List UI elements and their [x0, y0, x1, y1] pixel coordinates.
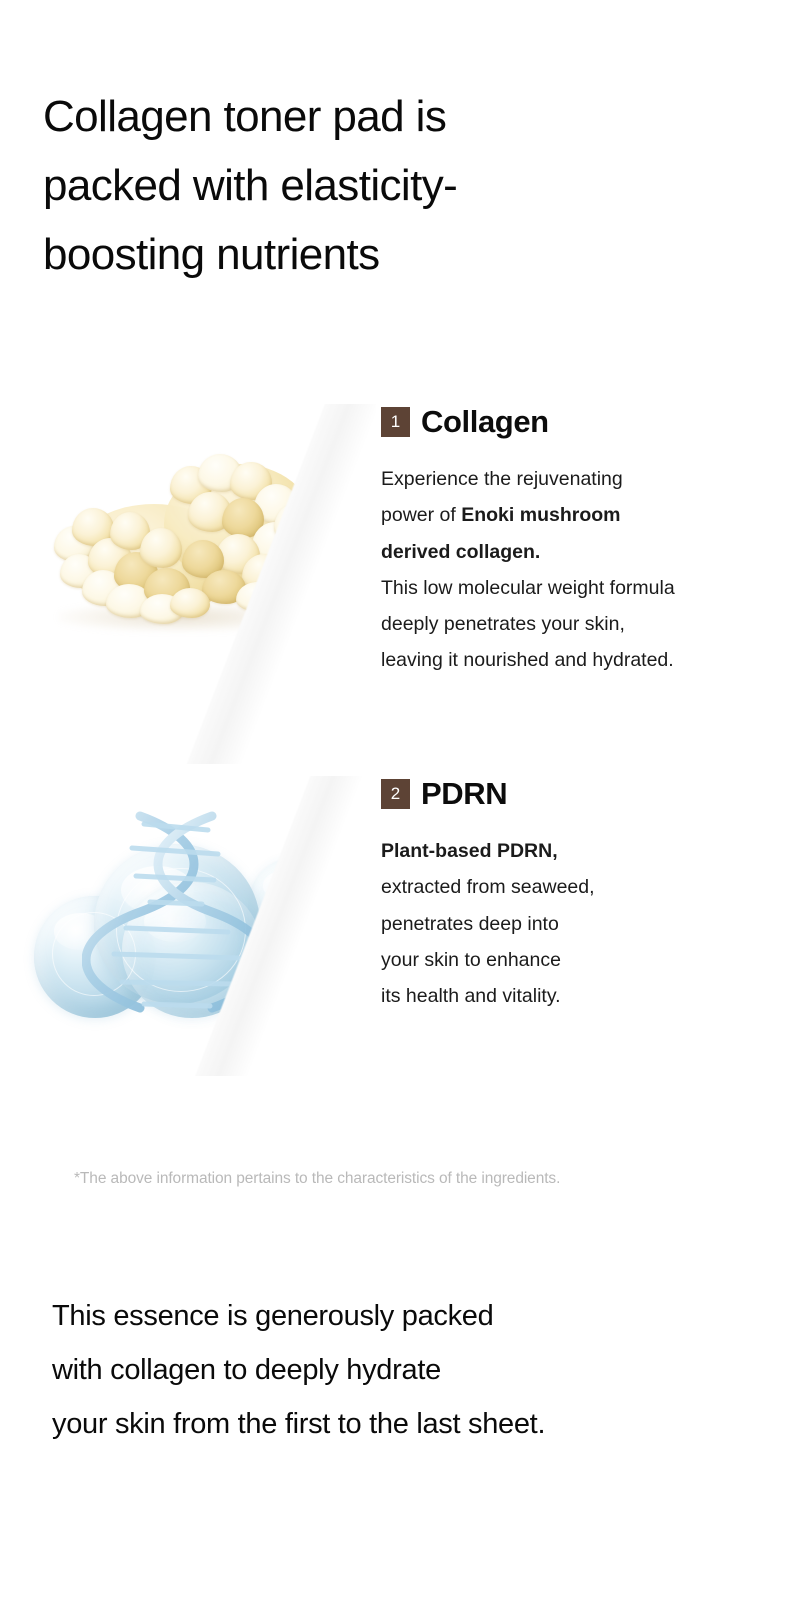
ingredient-section-collagen: 1 Collagen Experience the rejuvenating p…: [0, 404, 800, 764]
desc-line: your skin to enhance: [381, 942, 781, 978]
closing-statement: This essence is generously packed with c…: [52, 1290, 752, 1452]
ingredient-disclaimer: *The above information pertains to the c…: [74, 1170, 560, 1188]
desc-line: power of Enoki mushroom: [381, 497, 781, 533]
ingredient-heading: 2 PDRN: [381, 776, 781, 812]
ingredient-description: Plant-based PDRN, extracted from seaweed…: [381, 833, 781, 1014]
ingredient-description: Experience the rejuvenating power of Eno…: [381, 461, 781, 679]
desc-line: derived collagen.: [381, 534, 781, 570]
desc-line: leaving it nourished and hydrated.: [381, 642, 781, 678]
product-detail-page: Collagen toner pad is packed with elasti…: [0, 0, 800, 1616]
headline-line-2: packed with elasticity-: [43, 151, 683, 220]
headline-line-1: Collagen toner pad is: [43, 82, 683, 151]
snow-fungus-mushroom-illustration: [36, 442, 336, 652]
ingredient-number-badge: 1: [381, 407, 410, 437]
desc-line: Experience the rejuvenating: [381, 461, 781, 497]
ingredient-title: Collagen: [421, 404, 549, 440]
desc-line: extracted from seaweed,: [381, 869, 781, 905]
ingredient-image-collagen: [0, 404, 376, 764]
closing-line-1: This essence is generously packed: [52, 1290, 752, 1344]
ingredient-heading: 1 Collagen: [381, 404, 781, 440]
dna-helix-icon: [82, 804, 272, 1030]
desc-line: Plant-based PDRN,: [381, 833, 781, 869]
desc-line: deeply penetrates your skin,: [381, 606, 781, 642]
desc-line: This low molecular weight formula: [381, 570, 781, 606]
closing-line-2: with collagen to deeply hydrate: [52, 1344, 752, 1398]
ingredient-number-badge: 2: [381, 779, 410, 809]
closing-line-3: your skin from the first to the last she…: [52, 1398, 752, 1452]
ingredient-text-collagen: 1 Collagen Experience the rejuvenating p…: [381, 404, 781, 679]
desc-line: penetrates deep into: [381, 906, 781, 942]
desc-text: power of: [381, 504, 461, 526]
desc-emphasis: Enoki mushroom: [461, 504, 620, 526]
ingredient-text-pdrn: 2 PDRN Plant-based PDRN, extracted from …: [381, 776, 781, 1014]
ingredient-section-pdrn: 2 PDRN Plant-based PDRN, extracted from …: [0, 776, 800, 1076]
ingredient-title: PDRN: [421, 776, 507, 812]
ingredient-image-pdrn: [0, 776, 376, 1076]
desc-line: its health and vitality.: [381, 978, 781, 1014]
headline-line-3: boosting nutrients: [43, 220, 683, 289]
droplet-dna-illustration: [30, 800, 350, 1030]
page-title: Collagen toner pad is packed with elasti…: [43, 82, 683, 289]
